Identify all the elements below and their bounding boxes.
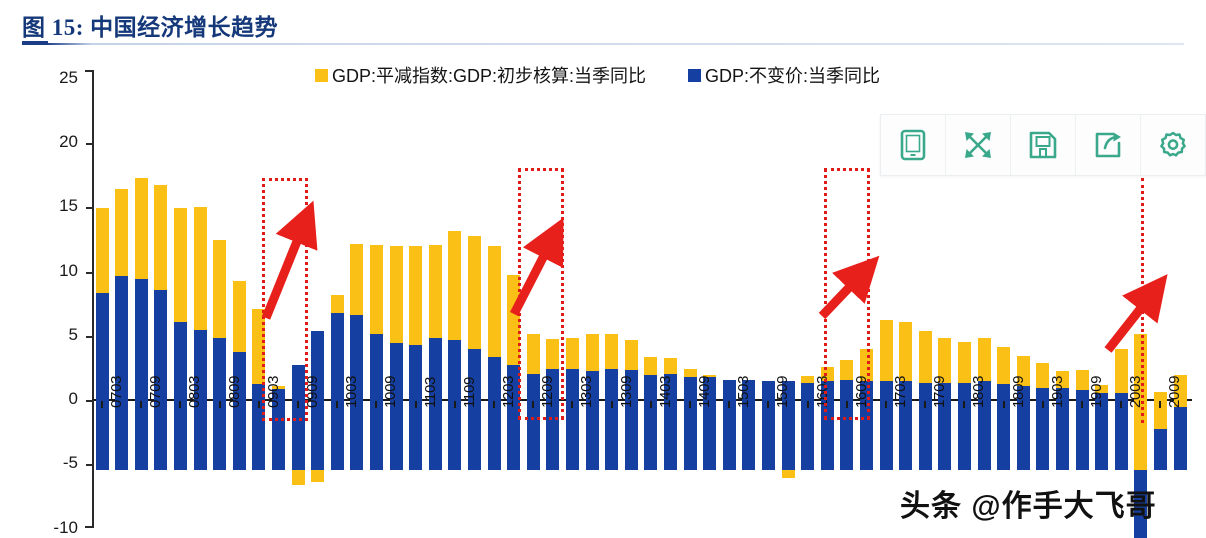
x-axis-label: 1103 bbox=[422, 377, 439, 408]
bar-segment-deflator bbox=[997, 347, 1010, 384]
share-icon bbox=[1092, 129, 1124, 161]
x-axis-tick bbox=[689, 401, 691, 408]
chart-legend: GDP:平减指数:GDP:初步核算:当季同比 GDP:不变价:当季同比 bbox=[315, 62, 880, 88]
x-axis-label: 0703 bbox=[108, 376, 125, 408]
x-axis-label: 1303 bbox=[578, 376, 595, 408]
bar-segment-deflator bbox=[1154, 392, 1167, 429]
x-axis-label: 0709 bbox=[147, 376, 164, 408]
x-axis-tick bbox=[885, 401, 887, 408]
bar-segment-real-gdp bbox=[997, 384, 1010, 470]
x-axis-label: 1903 bbox=[1049, 376, 1066, 408]
x-axis-tick bbox=[1159, 401, 1161, 408]
bar-segment-deflator bbox=[1036, 363, 1049, 387]
x-axis-tick bbox=[454, 401, 456, 408]
settings-icon bbox=[1157, 129, 1189, 161]
x-axis-tick bbox=[1120, 401, 1122, 408]
chart-toolbar[interactable] bbox=[880, 114, 1206, 176]
bar-segment-deflator bbox=[409, 246, 422, 345]
share-button[interactable] bbox=[1076, 115, 1141, 175]
bar-segment-deflator bbox=[96, 208, 109, 293]
bar-segment-deflator bbox=[174, 208, 187, 322]
x-axis-tick bbox=[767, 401, 769, 408]
legend-label-real-gdp: GDP:不变价:当季同比 bbox=[705, 62, 880, 88]
x-axis-tick bbox=[1042, 401, 1044, 408]
bar-segment-deflator bbox=[880, 320, 893, 382]
x-axis-tick bbox=[219, 401, 221, 408]
bar-segment-real-gdp bbox=[1154, 429, 1167, 470]
mobile-view-button[interactable] bbox=[881, 115, 946, 175]
x-axis-label: 1909 bbox=[1088, 376, 1105, 408]
title-divider-cap bbox=[22, 41, 48, 45]
bar-segment-real-gdp bbox=[96, 293, 109, 470]
highlight-line-2020 bbox=[1141, 178, 1144, 423]
bar-segment-deflator bbox=[684, 369, 697, 378]
x-axis-tick bbox=[924, 401, 926, 408]
y-axis-label: 15 bbox=[14, 196, 78, 216]
bar-segment-real-gdp bbox=[723, 380, 736, 470]
legend-swatch-blue bbox=[688, 69, 701, 82]
x-axis-tick bbox=[140, 401, 142, 408]
x-axis-label: 1309 bbox=[618, 376, 635, 408]
bar-segment-deflator bbox=[194, 207, 207, 330]
page-title: 图 15: 中国经济增长趋势 bbox=[22, 8, 278, 42]
bar-segment-deflator bbox=[154, 185, 167, 290]
bar-segment-real-gdp bbox=[331, 313, 344, 470]
x-axis-label: 0803 bbox=[186, 376, 203, 408]
highlight-box-2016 bbox=[824, 168, 870, 420]
bar-segment-deflator bbox=[331, 295, 344, 313]
x-axis-label: 1003 bbox=[343, 376, 360, 408]
x-axis-label: 1203 bbox=[500, 376, 517, 408]
bar-segment-deflator bbox=[1076, 370, 1089, 391]
bar-segment-deflator bbox=[429, 245, 442, 338]
bar-segment-deflator bbox=[448, 231, 461, 340]
bar-segment-real-gdp bbox=[958, 383, 971, 470]
save-button[interactable] bbox=[1011, 115, 1076, 175]
x-axis-tick bbox=[493, 401, 495, 408]
save-icon bbox=[1027, 129, 1059, 161]
bar-segment-real-gdp bbox=[644, 375, 657, 470]
bar-segment-deflator bbox=[1115, 349, 1128, 393]
bar-segment-deflator bbox=[311, 470, 324, 482]
bar-segment-deflator bbox=[390, 246, 403, 342]
y-axis-label: 5 bbox=[14, 325, 78, 345]
x-axis-tick bbox=[611, 401, 613, 408]
chart-page: 图 15: 中国经济增长趋势 2520151050-5-10 070307090… bbox=[0, 0, 1206, 538]
bar-segment-deflator bbox=[292, 470, 305, 485]
bar-segment-deflator bbox=[782, 470, 795, 478]
y-axis-label: 25 bbox=[14, 68, 78, 88]
bar-segment-deflator bbox=[135, 178, 148, 278]
bar-segment-deflator bbox=[919, 331, 932, 382]
legend-swatch-yellow bbox=[315, 69, 328, 82]
x-axis-label: 1503 bbox=[735, 376, 752, 408]
bar-segment-real-gdp bbox=[880, 381, 893, 470]
legend-item-deflator: GDP:平减指数:GDP:初步核算:当季同比 bbox=[315, 62, 646, 88]
bar-segment-deflator bbox=[213, 240, 226, 338]
bar-segment-real-gdp bbox=[468, 349, 481, 470]
bar-segment-deflator bbox=[233, 281, 246, 352]
fullscreen-button[interactable] bbox=[946, 115, 1011, 175]
title-bar: 图 15: 中国经济增长趋势 bbox=[0, 0, 1206, 48]
y-axis-label: 20 bbox=[14, 132, 78, 152]
x-axis-tick bbox=[571, 401, 573, 408]
bar-segment-real-gdp bbox=[233, 352, 246, 470]
bar-segment-deflator bbox=[605, 334, 618, 369]
x-axis-tick bbox=[179, 401, 181, 408]
x-axis-label: 2009 bbox=[1166, 376, 1183, 408]
x-axis-tick bbox=[1081, 401, 1083, 408]
x-axis-label: 1009 bbox=[382, 376, 399, 408]
bar-segment-real-gdp bbox=[115, 276, 128, 470]
bar-segment-real-gdp bbox=[1174, 407, 1187, 470]
bar-segment-real-gdp bbox=[135, 279, 148, 470]
title-divider bbox=[22, 43, 1184, 45]
highlight-box-2009 bbox=[262, 178, 308, 421]
x-axis-tick bbox=[807, 401, 809, 408]
bar-segment-deflator bbox=[586, 334, 599, 371]
bar-segment-real-gdp bbox=[605, 369, 618, 471]
x-axis-tick bbox=[375, 401, 377, 408]
bar-segment-deflator bbox=[468, 236, 481, 349]
bar-segment-deflator bbox=[488, 246, 501, 357]
bar-segment-real-gdp bbox=[488, 357, 501, 470]
bar-segment-real-gdp bbox=[684, 377, 697, 470]
bar-segment-real-gdp bbox=[566, 369, 579, 471]
x-axis-label: 1809 bbox=[1010, 376, 1027, 408]
bar-segment-deflator bbox=[801, 376, 814, 382]
bar-segment-deflator bbox=[978, 338, 991, 382]
x-axis-tick bbox=[336, 401, 338, 408]
x-axis-label: 1109 bbox=[461, 377, 478, 408]
legend-label-deflator: GDP:平减指数:GDP:初步核算:当季同比 bbox=[332, 62, 646, 88]
y-axis-label: 10 bbox=[14, 261, 78, 281]
bar-segment-deflator bbox=[958, 342, 971, 383]
y-axis-label: -10 bbox=[14, 518, 78, 538]
settings-button[interactable] bbox=[1141, 115, 1205, 175]
bar-segment-deflator bbox=[370, 245, 383, 334]
y-axis-label: 0 bbox=[14, 389, 78, 409]
bar-segment-deflator bbox=[664, 358, 677, 373]
x-axis-label: 1509 bbox=[774, 376, 791, 408]
bar-segment-real-gdp bbox=[801, 383, 814, 470]
bar-segment-deflator bbox=[566, 338, 579, 369]
x-axis-tick bbox=[258, 401, 260, 408]
x-axis-label: 1803 bbox=[970, 376, 987, 408]
y-axis-label: -5 bbox=[14, 453, 78, 473]
bar-segment-deflator bbox=[625, 340, 638, 370]
bar-segment-deflator bbox=[644, 357, 657, 375]
x-axis-label: 0809 bbox=[226, 376, 243, 408]
highlight-box-2012 bbox=[518, 168, 564, 420]
fullscreen-icon bbox=[962, 129, 994, 161]
watermark: 头条 @作手大飞哥 bbox=[900, 481, 1157, 525]
x-axis-tick bbox=[728, 401, 730, 408]
x-axis-label: 1403 bbox=[657, 376, 674, 408]
x-axis-tick bbox=[415, 401, 417, 408]
bar-segment-deflator bbox=[899, 322, 912, 381]
x-axis-tick bbox=[1003, 401, 1005, 408]
legend-item-real-gdp: GDP:不变价:当季同比 bbox=[688, 62, 880, 88]
x-axis-tick bbox=[963, 401, 965, 408]
mobile-view-icon bbox=[898, 128, 928, 162]
bar-segment-deflator bbox=[115, 189, 128, 276]
bar-segment-real-gdp bbox=[174, 322, 187, 470]
bar-segment-real-gdp bbox=[919, 383, 932, 470]
x-axis-tick bbox=[650, 401, 652, 408]
x-axis-label: 1703 bbox=[892, 376, 909, 408]
bar-segment-deflator bbox=[350, 244, 363, 315]
x-axis-label: 1709 bbox=[931, 376, 948, 408]
x-axis-tick bbox=[101, 401, 103, 408]
x-axis-label: 1409 bbox=[696, 376, 713, 408]
bar-segment-real-gdp bbox=[762, 381, 775, 470]
